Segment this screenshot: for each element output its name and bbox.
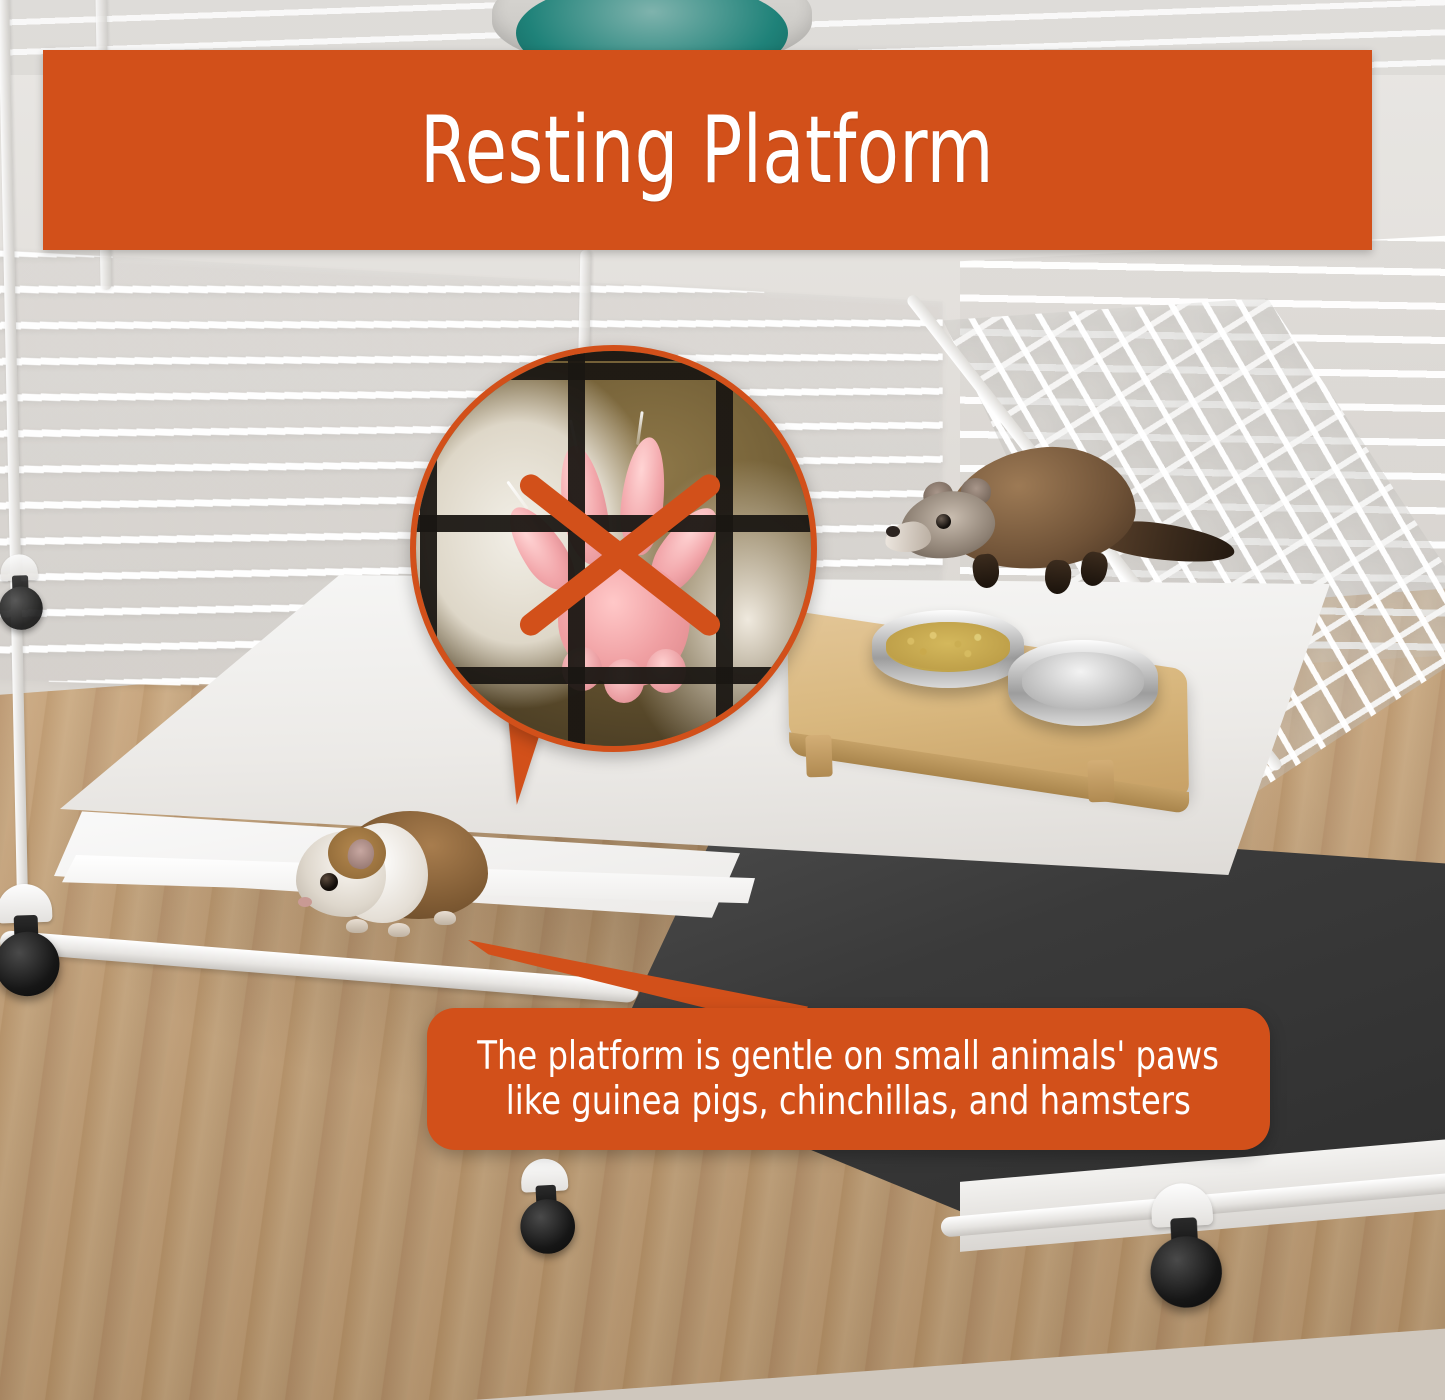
ferret-paw: [1044, 559, 1072, 595]
ferret: [885, 430, 1215, 620]
no-wire-floor-callout: [410, 345, 817, 752]
product-feature-image: Resting Platform The platform is gentle …: [0, 0, 1445, 1400]
food-bowl: [872, 610, 1024, 688]
guinea-pig-foot: [346, 919, 368, 933]
kibble: [886, 622, 1010, 670]
ferret-eye: [936, 514, 951, 529]
water-bowl-inner: [1022, 652, 1144, 710]
bowl-stand-leg: [1087, 760, 1114, 803]
guinea-pig-foot: [388, 923, 410, 937]
caption-line-2: like guinea pigs, chinchillas, and hamst…: [506, 1079, 1191, 1124]
cross-out-icon: [416, 351, 817, 752]
caption-line-1: The platform is gentle on small animals'…: [478, 1034, 1220, 1079]
guinea-pig-nose: [298, 897, 312, 907]
page-title: Resting Platform: [420, 96, 994, 204]
ferret-nose: [886, 526, 900, 537]
water-bowl: [1008, 640, 1158, 726]
guinea-pig-eye: [320, 873, 338, 891]
title-banner: Resting Platform: [43, 50, 1372, 250]
guinea-pig-foot: [434, 911, 456, 925]
guinea-pig: [292, 805, 502, 940]
caption-bubble: The platform is gentle on small animals'…: [427, 1008, 1270, 1150]
